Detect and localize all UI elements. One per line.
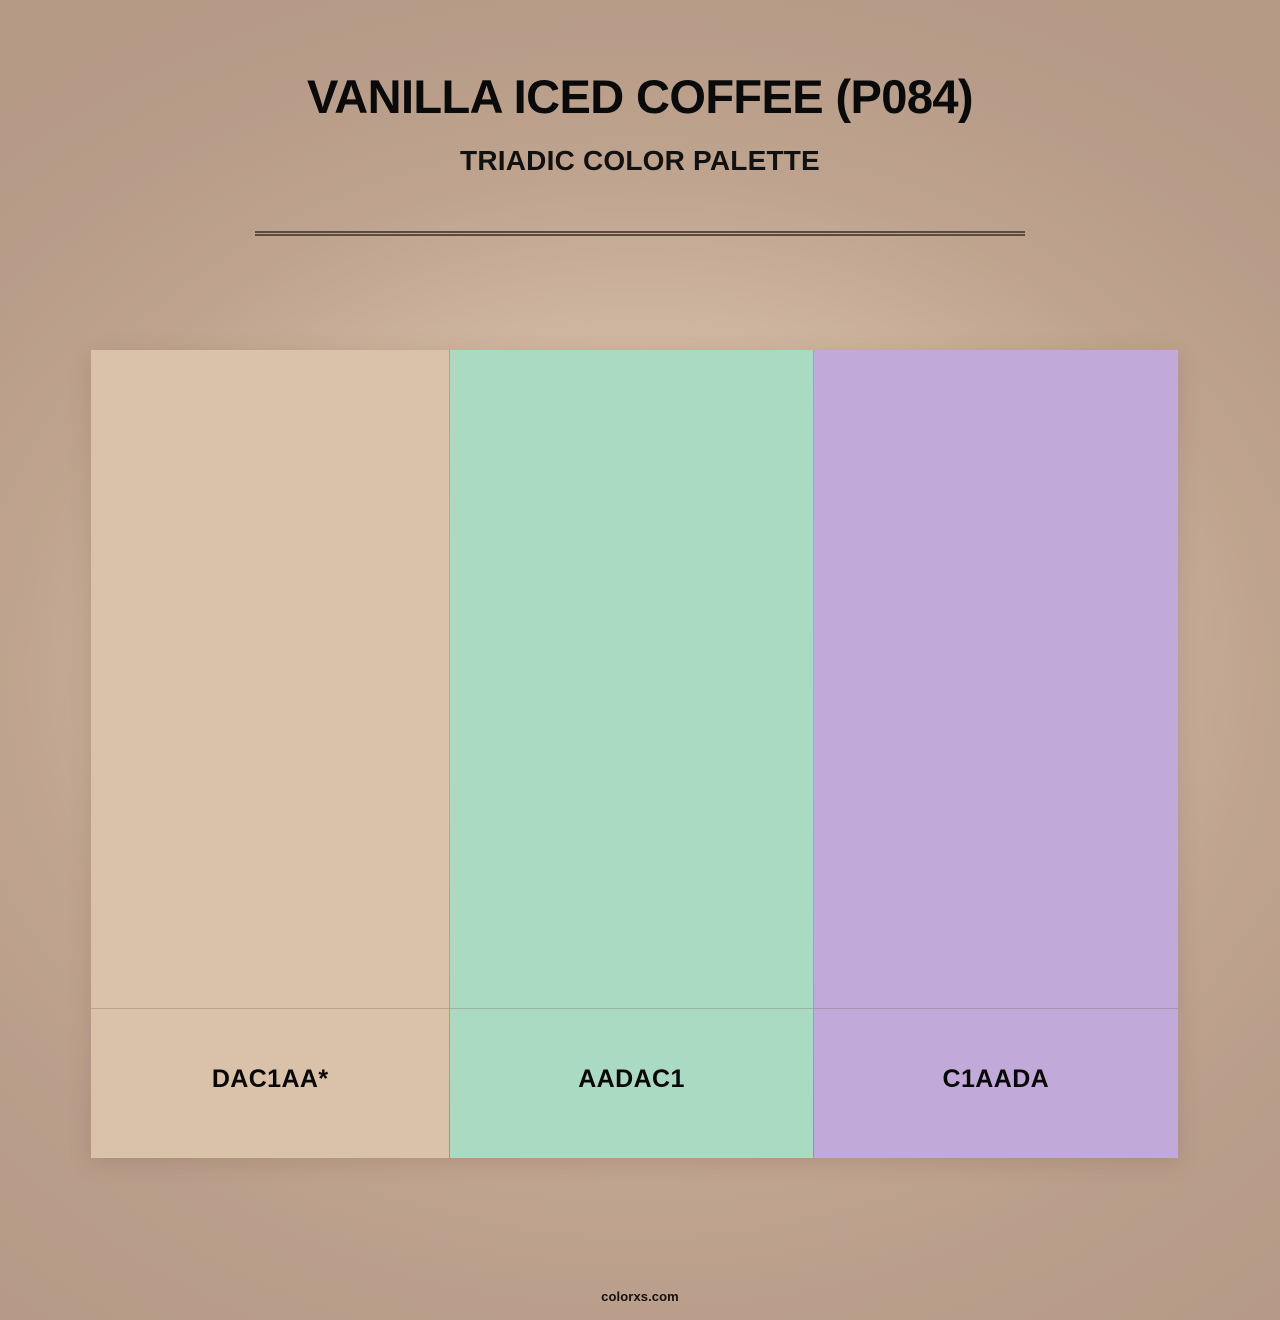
footer: colorxs.com xyxy=(0,1288,1280,1306)
swatch-color-area-3[interactable] xyxy=(814,350,1178,1008)
swatch-hex-label-1: DAC1AA* xyxy=(212,1065,329,1094)
site-watermark: colorxs.com xyxy=(601,1289,679,1304)
header: VANILLA ICED COFFEE (P084) TRIADIC COLOR… xyxy=(0,0,1280,177)
swatch-column-2[interactable]: AADAC1 xyxy=(449,350,812,1158)
swatch-color-area-2[interactable] xyxy=(450,350,812,1008)
page-title: VANILLA ICED COFFEE (P084) xyxy=(0,0,1280,123)
swatch-column-3[interactable]: C1AADA xyxy=(813,350,1178,1158)
swatch-label-strip-3: C1AADA xyxy=(814,1008,1178,1158)
swatch-column-1[interactable]: DAC1AA* xyxy=(91,350,449,1158)
swatch-label-strip-1: DAC1AA* xyxy=(91,1008,449,1158)
swatch-color-area-1[interactable] xyxy=(91,350,449,1008)
palette-panel: DAC1AA* AADAC1 C1AADA xyxy=(91,350,1178,1158)
title-divider xyxy=(255,231,1025,236)
page-subtitle: TRIADIC COLOR PALETTE xyxy=(0,123,1280,177)
swatch-hex-label-3: C1AADA xyxy=(943,1065,1050,1094)
swatch-label-strip-2: AADAC1 xyxy=(450,1008,812,1158)
swatch-hex-label-2: AADAC1 xyxy=(578,1065,685,1094)
